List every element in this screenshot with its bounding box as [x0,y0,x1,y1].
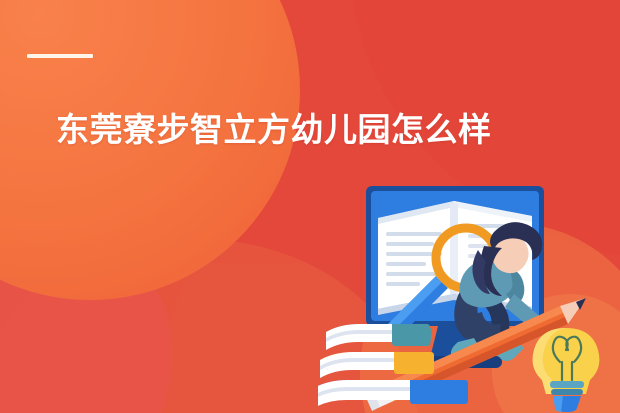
title-underline-rule [27,54,93,58]
study-search-illustration [318,176,620,413]
banner-card: 东莞寮步智立方幼儿园怎么样 [0,0,620,413]
page-title: 东莞寮步智立方幼儿园怎么样 [56,108,492,152]
